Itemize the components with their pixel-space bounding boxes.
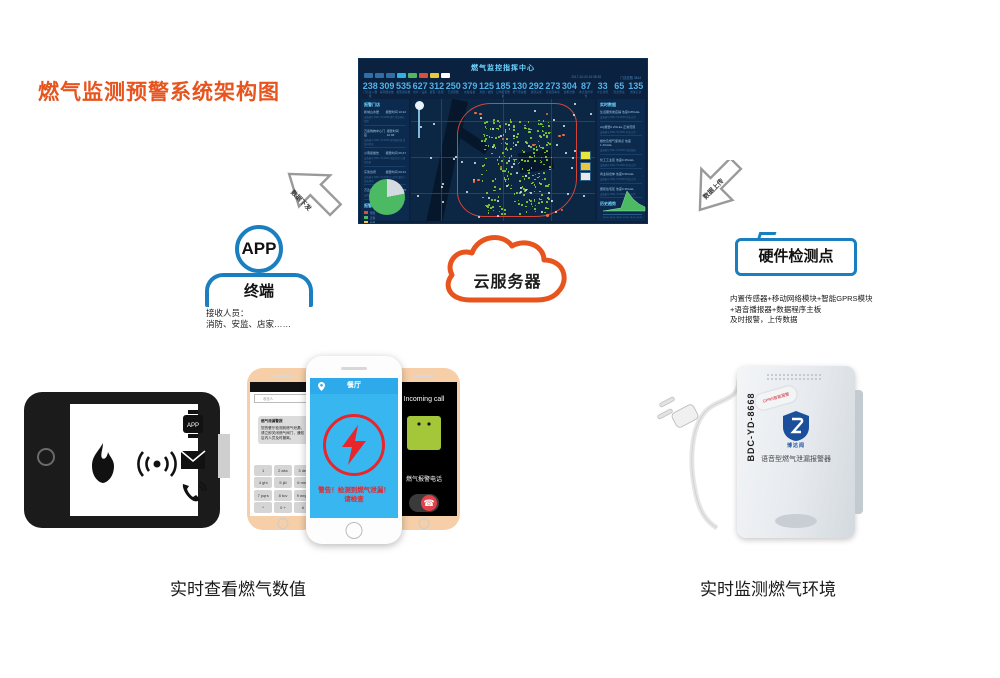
map-dot	[494, 186, 496, 188]
sms-message-title: 燃气泄漏警报	[261, 419, 283, 423]
keypad-key[interactable]: *	[254, 502, 272, 513]
vent-hole	[787, 374, 789, 376]
status-chip-2[interactable]	[386, 73, 395, 78]
map-dot-white	[583, 195, 585, 197]
vent-hole	[795, 374, 797, 376]
stat-label: 探测器总数	[379, 91, 396, 95]
map-dot	[488, 204, 490, 206]
vent-hole	[815, 374, 817, 376]
map-dot-white	[497, 215, 499, 217]
map-dot	[544, 178, 546, 180]
panel-row-sub: 设备编号 BDC-YD-8668 燃气浓度超标报警	[364, 115, 406, 123]
map-dot	[526, 142, 528, 144]
panel-row[interactable]: 生活服务类店铺 浓度0.8%LEL设备编号 BDC-YD-8668 状态正常	[600, 110, 642, 122]
home-button[interactable]	[37, 448, 55, 466]
map-dot-white	[548, 192, 550, 194]
panel-row-title: 化工工业区 浓度0.4%LEL	[600, 158, 634, 162]
alarm-phone[interactable]: 餐厅 警告！检测到燃气泄漏！ 请检查	[306, 356, 402, 544]
vent-hole	[771, 374, 773, 376]
vent-hole	[783, 378, 785, 380]
keypad-key[interactable]: 1	[254, 465, 272, 476]
arrow-left-downlink: 数据下发	[278, 165, 344, 221]
signal-icon	[136, 448, 178, 480]
map-dot	[530, 137, 532, 139]
map-dot-white	[553, 119, 555, 121]
map-dot	[527, 170, 529, 172]
map-dot	[530, 146, 532, 148]
status-chip-7[interactable]	[441, 73, 450, 78]
map-dot	[538, 123, 540, 125]
alarm-warning-circle	[323, 414, 385, 476]
status-chip-4[interactable]	[408, 73, 417, 78]
map-dot	[515, 159, 517, 161]
stat-value: 87	[578, 81, 595, 91]
stat-value: 304	[561, 81, 578, 91]
vent-hole	[779, 374, 781, 376]
vent-hole	[767, 374, 769, 376]
dashboard-status-chips[interactable]	[364, 73, 450, 78]
stat-label: 维保记录	[628, 91, 645, 95]
stat-value: 379	[462, 81, 479, 91]
alarm-home-button[interactable]	[346, 522, 363, 539]
hangup-icon: ☎	[421, 495, 437, 511]
map-dot	[518, 203, 520, 205]
stat-label: 待处理事项	[545, 91, 562, 95]
detector-product-name: 语音型燃气泄漏报警器	[737, 454, 855, 464]
map-dot	[501, 208, 503, 210]
panel-row-title: 商业综合体 浓度0.9%LEL	[600, 172, 634, 176]
map-dot	[533, 152, 535, 154]
vent-hole	[803, 378, 805, 380]
map-dot	[546, 144, 548, 146]
map-dot-white	[590, 113, 592, 115]
status-chip-0[interactable]	[364, 73, 373, 78]
legend-label: 正常	[370, 216, 375, 220]
map-dot	[498, 128, 500, 130]
sms-home-button[interactable]	[278, 518, 289, 529]
stat-label: 报警 / 处理	[428, 91, 445, 95]
map-dot-white	[534, 110, 536, 112]
map-dot	[510, 121, 512, 123]
map-dot-white	[574, 103, 576, 105]
map-dot	[484, 122, 486, 124]
alarm-phone-screen[interactable]: 餐厅 警告！检测到燃气泄漏！ 请检查	[310, 378, 398, 518]
map-dot	[546, 159, 548, 161]
vent-hole	[819, 374, 821, 376]
vent-hole	[811, 374, 813, 376]
alarm-phone-speaker	[341, 367, 367, 370]
caption-left: 实时查看燃气数值	[170, 575, 306, 600]
cloud-label: 云服务器	[440, 268, 575, 292]
power-plug-icon	[657, 396, 699, 428]
map-dot	[484, 164, 486, 166]
x-tick: 04:00	[610, 217, 615, 219]
stat-value: 535	[395, 81, 412, 91]
detector-speaker-oval	[775, 514, 817, 528]
x-tick: 12:00	[623, 217, 628, 219]
vent-hole	[811, 378, 813, 380]
app-body-shape: 终端	[205, 273, 313, 307]
legend-swatch	[364, 216, 368, 219]
map-dot	[506, 143, 508, 145]
stat-label: 处理完成	[528, 91, 545, 95]
stat-value: 130	[511, 81, 528, 91]
android-icon	[407, 416, 441, 450]
map-zoom-knob[interactable]	[415, 101, 424, 110]
call-home-button[interactable]	[419, 518, 430, 529]
landscape-phone[interactable]: APP	[24, 392, 220, 528]
app-head-circle: APP	[235, 225, 283, 273]
map-dot	[514, 193, 516, 195]
stat-cell: 312报警 / 处理	[428, 81, 445, 99]
panel-row-title: 生活服务类店铺 浓度0.8%LEL	[600, 110, 640, 114]
map-dot-alert	[477, 179, 479, 181]
map-dot-white	[420, 126, 422, 128]
stat-cell: 238门店接入数量	[362, 81, 379, 99]
map-zoom-slider[interactable]	[418, 104, 420, 138]
map-dot	[534, 160, 536, 162]
dashboard-title: 燃气监控指挥中心	[359, 63, 647, 73]
panel-row-title: 小南街餐饮	[364, 151, 379, 155]
map-dot	[545, 132, 547, 134]
envelope-icon	[180, 450, 206, 470]
map-dot	[510, 148, 512, 150]
map-dot	[542, 147, 544, 149]
panel-row-sub: 设备编号 BDC-YD-8620 状态正常	[600, 177, 642, 181]
x-tick: 20:00	[637, 217, 642, 219]
map-legend	[580, 151, 591, 183]
hardware-node-bubble[interactable]: 硬件检测点	[735, 238, 857, 276]
map-dot	[527, 160, 529, 162]
call-phone-speaker	[414, 375, 434, 377]
map-dot	[526, 201, 528, 203]
map-dot	[548, 125, 550, 127]
map-dot	[548, 198, 550, 200]
sms-message-bubble: 燃气泄漏警报 您的餐厅检测到燃气泄漏，请立即关闭燃气阀门，通知店内人员及时撤离。	[258, 416, 308, 444]
status-chip-3[interactable]	[397, 73, 406, 78]
map-dot	[499, 125, 501, 127]
vent-hole	[767, 378, 769, 380]
panel-row-title: AQ报警0.2%LEL 正常范围	[600, 125, 635, 129]
map-dot-alert	[532, 144, 534, 146]
arrow-right-uplink: 数据上传	[686, 160, 752, 216]
map-dot	[539, 145, 541, 147]
map-dot	[509, 157, 511, 159]
map-dot	[509, 128, 511, 130]
pin-icon	[318, 382, 325, 391]
panel-row-sub: 设备编号 BDC-YD-8640 浓度偏高	[600, 148, 642, 152]
map-dot	[505, 123, 507, 125]
sms-recipient-field[interactable]: 收信人	[254, 394, 312, 403]
map-dot	[523, 151, 525, 153]
panel-row-title: 东篱食府	[364, 170, 376, 174]
map-dot	[492, 180, 494, 182]
map-dot	[531, 203, 533, 205]
vent-hole	[775, 374, 777, 376]
map-dot-white	[441, 186, 443, 188]
panel-row-sub: 设备编号 BDC-YD-8668 状态正常	[600, 115, 642, 119]
map-dot	[494, 199, 496, 201]
map-dot	[513, 142, 515, 144]
stat-value: 309	[379, 81, 396, 91]
keypad-key[interactable]: 7 pqrs	[254, 490, 272, 501]
keypad-key[interactable]: 0 +	[274, 502, 292, 513]
status-chip-6[interactable]	[430, 73, 439, 78]
status-chip-5[interactable]	[419, 73, 428, 78]
vent-hole	[791, 378, 793, 380]
map-dot-white	[442, 201, 444, 203]
panel-row[interactable]: AQ报警0.2%LEL 正常范围设备编号 BDC-YD-8651 状态正常	[600, 125, 642, 137]
map-dot	[538, 202, 540, 204]
legend-label: 紧急	[370, 211, 375, 215]
stat-cell: 130燃气泄漏数	[511, 81, 528, 99]
dashboard-left-panel: 报警门店 新城山水居报警时间 10:22设备编号 BDC-YD-8668 燃气浓…	[361, 99, 409, 221]
map-dot-alert	[561, 209, 563, 211]
landscape-phone-screen[interactable]: APP	[70, 404, 198, 516]
vent-hole	[779, 378, 781, 380]
map-dot	[541, 194, 543, 196]
map-dot-white	[488, 197, 490, 199]
map-dot	[528, 121, 530, 123]
stat-value: 273	[545, 81, 562, 91]
map-dot	[507, 149, 509, 151]
map-dot	[510, 188, 512, 190]
map-dot	[504, 209, 506, 211]
stat-label: 日均报警数量	[495, 91, 512, 99]
map-dot	[504, 213, 506, 215]
map-dot	[491, 199, 493, 201]
sms-phone-speaker	[273, 375, 293, 377]
caption-right: 实时监测燃气环境	[700, 575, 836, 600]
map-dot	[546, 150, 548, 152]
stat-value: 135	[628, 81, 645, 91]
alarm-message: 警告！检测到燃气泄漏！ 请检查	[310, 486, 398, 504]
stat-cell: 33今日新增	[594, 81, 611, 99]
map-dot	[533, 148, 535, 150]
panel-row[interactable]: 化工工业区 浓度0.4%LEL设备编号 BDC-YD-8633 状态正常	[600, 158, 642, 170]
map-dot	[546, 135, 548, 137]
stat-label: 燃气泄漏数	[511, 91, 528, 95]
vent-hole	[799, 374, 801, 376]
cloud-icon	[440, 228, 575, 306]
legend-swatch	[364, 211, 368, 214]
vent-hole	[775, 378, 777, 380]
flame-icon	[86, 442, 120, 484]
stat-label: 报警器总数	[395, 91, 412, 95]
stat-cell: 250已处理数	[445, 81, 462, 99]
stat-cell: 87重点监控单位	[578, 81, 595, 99]
map-dot	[543, 164, 545, 166]
panel-row-meta: 报警时间 10:22	[386, 110, 406, 114]
panel-row-sub: 设备编号 BDC-YD-8612 浓度异常 已通知店家	[364, 156, 406, 164]
hangup-button[interactable]: ☎	[409, 494, 439, 512]
map-dot-white	[511, 166, 513, 168]
app-description: 接收人员： 消防、安监、店家……	[206, 308, 291, 330]
panel-row-title: 新城山水居	[364, 110, 379, 114]
map-dot	[548, 142, 550, 144]
keypad-key[interactable]: 2 abc	[274, 465, 292, 476]
panel-row[interactable]: 万嘉购物中心门店报警时间 10:08设备编号 BDC-YD-8625 探测器离线…	[364, 129, 406, 149]
map-dot	[493, 122, 495, 124]
keypad-key[interactable]: 8 tuv	[274, 490, 292, 501]
map-dot-white	[572, 157, 574, 159]
vent-hole	[795, 378, 797, 380]
stat-cell: 627用户 / 设备	[412, 81, 429, 99]
stat-cell: 309探测器总数	[379, 81, 396, 99]
stat-label: 门店接入数量	[362, 91, 379, 99]
map-dot	[531, 167, 533, 169]
map-dot	[486, 135, 488, 137]
map-dot	[528, 131, 530, 133]
map-dot-white	[492, 128, 494, 130]
alarm-pie-chart	[369, 179, 405, 215]
stat-cell: 273待处理事项	[545, 81, 562, 99]
map-dot	[481, 140, 483, 142]
vent-hole	[803, 374, 805, 376]
detector-vent-holes	[767, 374, 823, 384]
legend-item: 预警	[364, 221, 409, 225]
dashboard-timestamp: 2017-10-24 10:35:45	[571, 75, 601, 79]
stat-value: 312	[428, 81, 445, 91]
map-dot	[486, 205, 488, 207]
map-dot	[508, 171, 510, 173]
panel-row-meta: 报警时间 10:08	[387, 129, 406, 137]
stat-label: 离线 / 故障	[478, 91, 495, 95]
map-dot	[482, 197, 484, 199]
map-dot-white	[417, 195, 419, 197]
map-dot	[544, 152, 546, 154]
map-dot	[516, 136, 518, 138]
map-view[interactable]	[411, 99, 595, 221]
map-dot	[537, 130, 539, 132]
map-dot	[549, 166, 551, 168]
x-tick: 16:00	[630, 217, 635, 219]
stat-label: 巡检次数	[561, 91, 578, 95]
map-dot	[506, 138, 508, 140]
app-desc-line2: 消防、安监、店家……	[206, 319, 291, 330]
map-dot-alert	[546, 214, 548, 216]
panel-row[interactable]: 小南街餐饮报警时间 09:47设备编号 BDC-YD-8612 浓度异常 已通知…	[364, 151, 406, 167]
map-dot	[516, 192, 518, 194]
map-dot	[528, 128, 530, 130]
map-dot-white	[563, 125, 565, 127]
map-dot	[534, 208, 536, 210]
hardware-label: 硬件检测点	[738, 241, 854, 273]
map-dot	[488, 145, 490, 147]
map-dot	[543, 172, 545, 174]
vent-hole	[819, 378, 821, 380]
vent-hole	[787, 378, 789, 380]
map-dot	[547, 185, 549, 187]
map-dot	[504, 170, 506, 172]
app-terminal-node[interactable]: APP 终端	[205, 225, 313, 305]
map-dot	[490, 207, 492, 209]
sms-keypad[interactable]: 12 abc3 def4 ghi5 jkl6 mno7 pqrs8 tuv9 w…	[254, 465, 312, 514]
panel-row[interactable]: 餐饮及燃气使用点 浓度1.4%LEL设备编号 BDC-YD-8640 浓度偏高	[600, 139, 642, 155]
stat-value: 250	[445, 81, 462, 91]
keypad-key[interactable]: 5 jkl	[274, 477, 292, 488]
map-dot	[541, 201, 543, 203]
stat-label: 已处理数	[445, 91, 462, 95]
map-dot-white	[506, 185, 508, 187]
status-chip-1[interactable]	[375, 73, 384, 78]
map-dot	[499, 188, 501, 190]
app-desc-line1: 接收人员：	[206, 308, 291, 319]
map-dot	[546, 201, 548, 203]
map-dot-white	[573, 114, 575, 116]
map-dot	[540, 183, 542, 185]
map-dot	[513, 126, 515, 128]
map-dot	[521, 204, 523, 206]
map-dot	[517, 141, 519, 143]
map-dot	[485, 145, 487, 147]
map-dot-white	[556, 144, 558, 146]
stat-cell: 65隐患整改	[611, 81, 628, 99]
alarm-app-header: 餐厅	[310, 378, 398, 394]
map-dot	[511, 155, 513, 157]
map-dot-white	[433, 123, 435, 125]
app-label: APP	[239, 229, 279, 269]
vent-hole	[783, 374, 785, 376]
map-dot-alert	[558, 135, 560, 137]
stat-value: 33	[594, 81, 611, 91]
detector-side-vent	[855, 390, 863, 514]
map-dot	[485, 138, 487, 140]
panel-row-sub: 设备编号 BDC-YD-8633 状态正常	[600, 163, 642, 167]
map-dot	[486, 121, 488, 123]
map-dot-white	[455, 156, 457, 158]
watch-app-text: APP	[187, 423, 199, 429]
stat-cell: 185日均报警数量	[495, 81, 512, 99]
stat-value: 185	[495, 81, 512, 91]
shield-b-icon	[781, 410, 811, 442]
map-dot	[543, 134, 545, 136]
vent-hole	[807, 374, 809, 376]
map-dot	[519, 213, 521, 215]
stat-label: 今日新增	[594, 91, 611, 95]
panel-row[interactable]: 新城山水居报警时间 10:22设备编号 BDC-YD-8668 燃气浓度超标报警	[364, 110, 406, 126]
app-watch-icon: APP	[182, 410, 204, 438]
map-dot	[507, 175, 509, 177]
hw-desc-line1: 内置传感器+移动网络模块+智能GPRS模块	[730, 294, 930, 305]
map-dot	[482, 165, 484, 167]
panel-row[interactable]: 商业综合体 浓度0.9%LEL设备编号 BDC-YD-8620 状态正常	[600, 172, 642, 184]
legend-item: 正常	[364, 216, 409, 220]
map-dot	[521, 159, 523, 161]
map-dot	[493, 119, 495, 121]
map-dot	[524, 160, 526, 162]
map-dot-white	[520, 191, 522, 193]
cloud-server-node[interactable]: 云服务器	[440, 228, 575, 306]
panel-row-title: 万嘉购物中心门店	[364, 129, 387, 137]
map-dot	[540, 136, 542, 138]
stat-value: 65	[611, 81, 628, 91]
map-dot	[532, 175, 534, 177]
map-dot	[545, 156, 547, 158]
keypad-key[interactable]: 4 ghi	[254, 477, 272, 488]
map-dot-white	[500, 135, 502, 137]
stat-cell: 304巡检次数	[561, 81, 578, 99]
map-dot	[502, 152, 504, 154]
terminal-label: 终端	[209, 277, 309, 307]
stat-value: 238	[362, 81, 379, 91]
map-dot	[505, 131, 507, 133]
stat-cell: 125离线 / 故障	[478, 81, 495, 99]
map-dot-white	[571, 167, 573, 169]
dashboard-screen: 燃气监控指挥中心 2017-10-24 10:35:45 门店总数 3844 2…	[358, 58, 648, 224]
map-dot-alert	[474, 112, 476, 114]
map-dot	[502, 170, 504, 172]
